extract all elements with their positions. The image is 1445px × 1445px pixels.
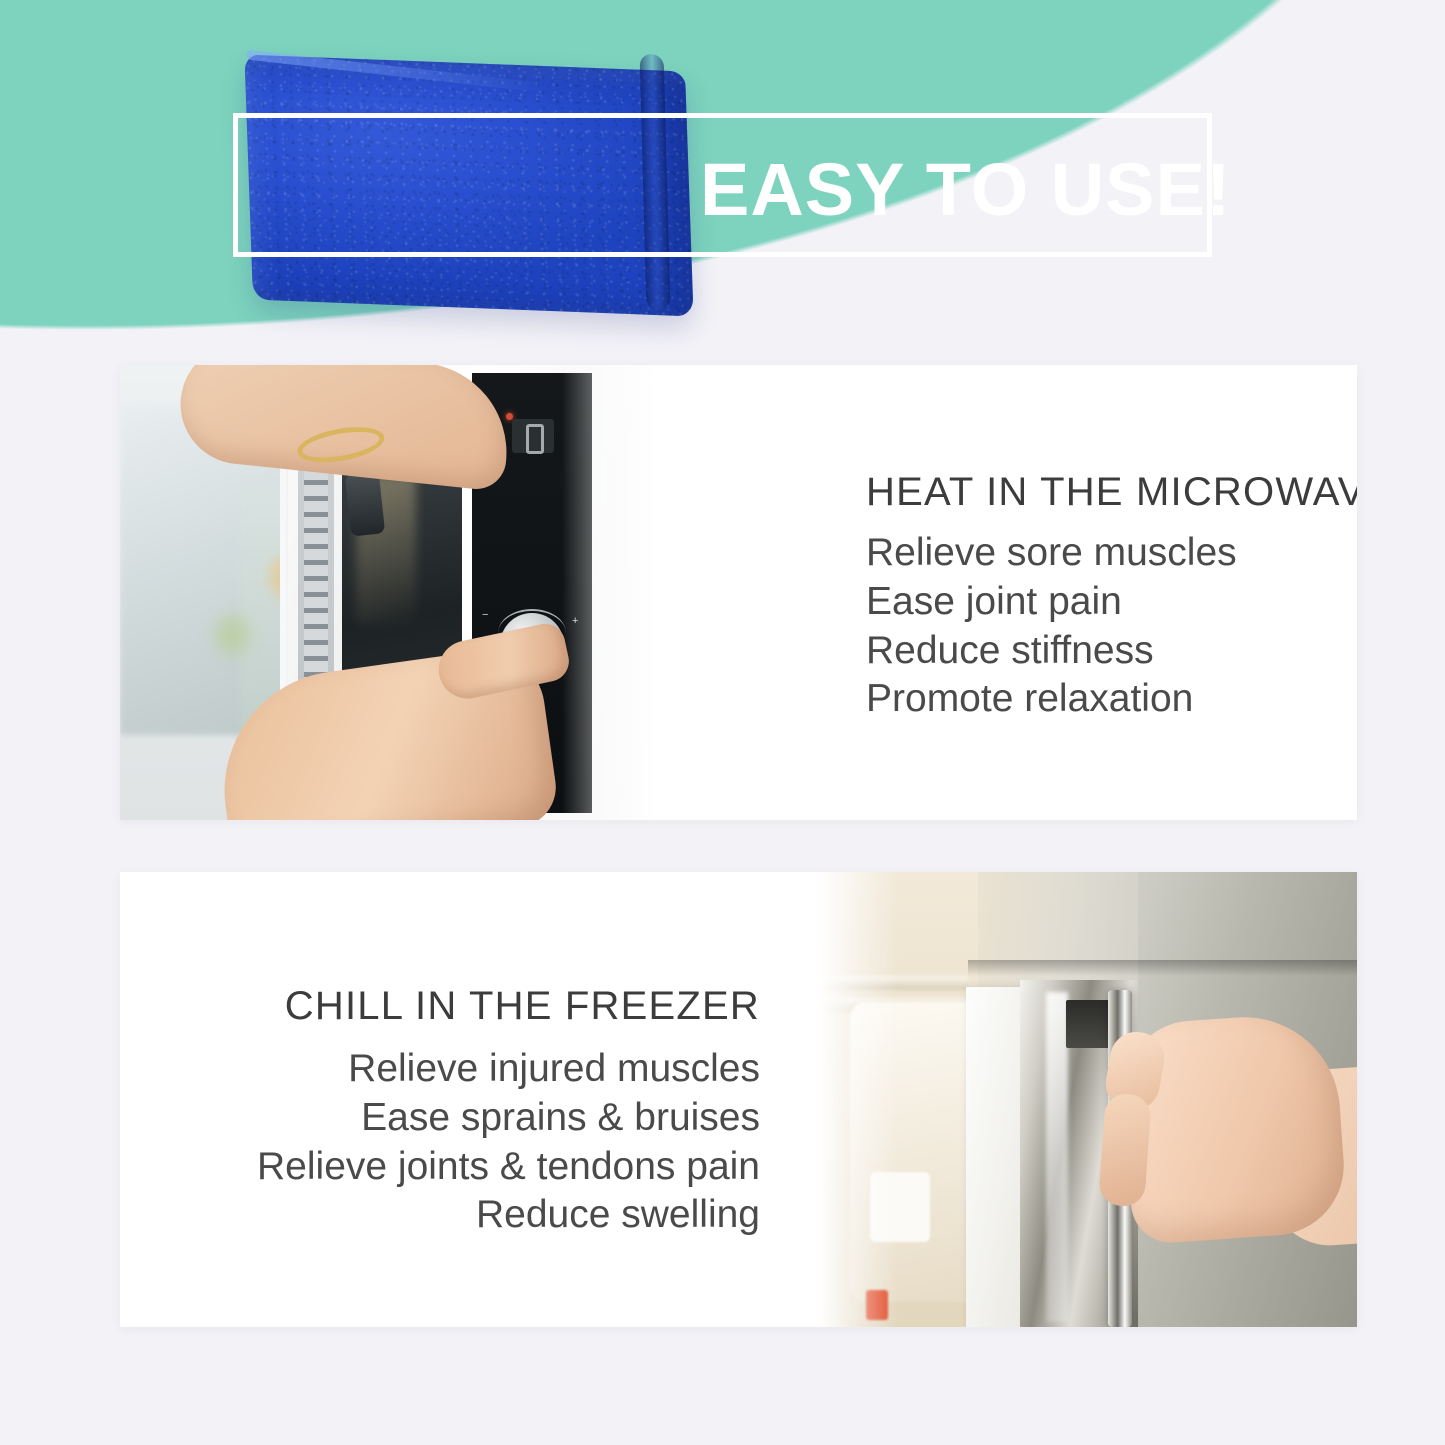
microwave-scene: Crispy Reheat Quick Defrost Clock Thai A… xyxy=(120,365,672,820)
infographic-page: EASY TO USE! Crispy Rehe xyxy=(0,0,1445,1445)
dial-minus-label: − xyxy=(482,609,488,621)
microwave-door-handle xyxy=(345,471,385,536)
card-heat-in-the-microwave: Crispy Reheat Quick Defrost Clock Thai A… xyxy=(120,365,1357,820)
gold-bracelet xyxy=(295,421,387,468)
panel-display xyxy=(512,419,554,453)
freezer-benefit-list: Relieve injured muscles Ease sprains & b… xyxy=(150,1045,760,1240)
freezer-heading: CHILL IN THE FREEZER xyxy=(150,984,760,1029)
microwave-heading: HEAT IN THE MICROWAVE xyxy=(866,470,1346,515)
background-bokeh-green xyxy=(215,615,249,655)
chrome-highlight xyxy=(1046,992,1068,1322)
microwave-text-block: HEAT IN THE MICROWAVE Relieve sore muscl… xyxy=(746,365,1346,820)
list-item: Relieve joints & tendons pain xyxy=(150,1143,760,1192)
microwave-benefit-list: Relieve sore muscles Ease joint pain Red… xyxy=(866,529,1346,724)
hero-title: EASY TO USE! xyxy=(700,140,1220,240)
freezer-photo xyxy=(808,872,1357,1327)
card-chill-in-the-freezer: CHILL IN THE FREEZER Relieve injured mus… xyxy=(120,872,1357,1327)
fridge-top-shadow xyxy=(968,960,1357,976)
freezer-scene xyxy=(808,872,1357,1327)
list-item: Relieve injured muscles xyxy=(150,1045,760,1094)
list-item: Ease sprains & bruises xyxy=(150,1094,760,1143)
fingers xyxy=(1098,1093,1152,1208)
microwave-photo: Crispy Reheat Quick Defrost Clock Thai A… xyxy=(120,365,672,820)
freezer-text-block: CHILL IN THE FREEZER Relieve injured mus… xyxy=(150,872,850,1327)
list-item: Ease joint pain xyxy=(866,578,1346,627)
list-item: Relieve sore muscles xyxy=(866,529,1346,578)
list-item: Reduce stiffness xyxy=(866,627,1346,676)
list-item: Promote relaxation xyxy=(866,675,1346,724)
photo-fade-left xyxy=(808,872,898,1327)
list-item: Reduce swelling xyxy=(150,1191,760,1240)
photo-fade-right xyxy=(562,365,672,820)
